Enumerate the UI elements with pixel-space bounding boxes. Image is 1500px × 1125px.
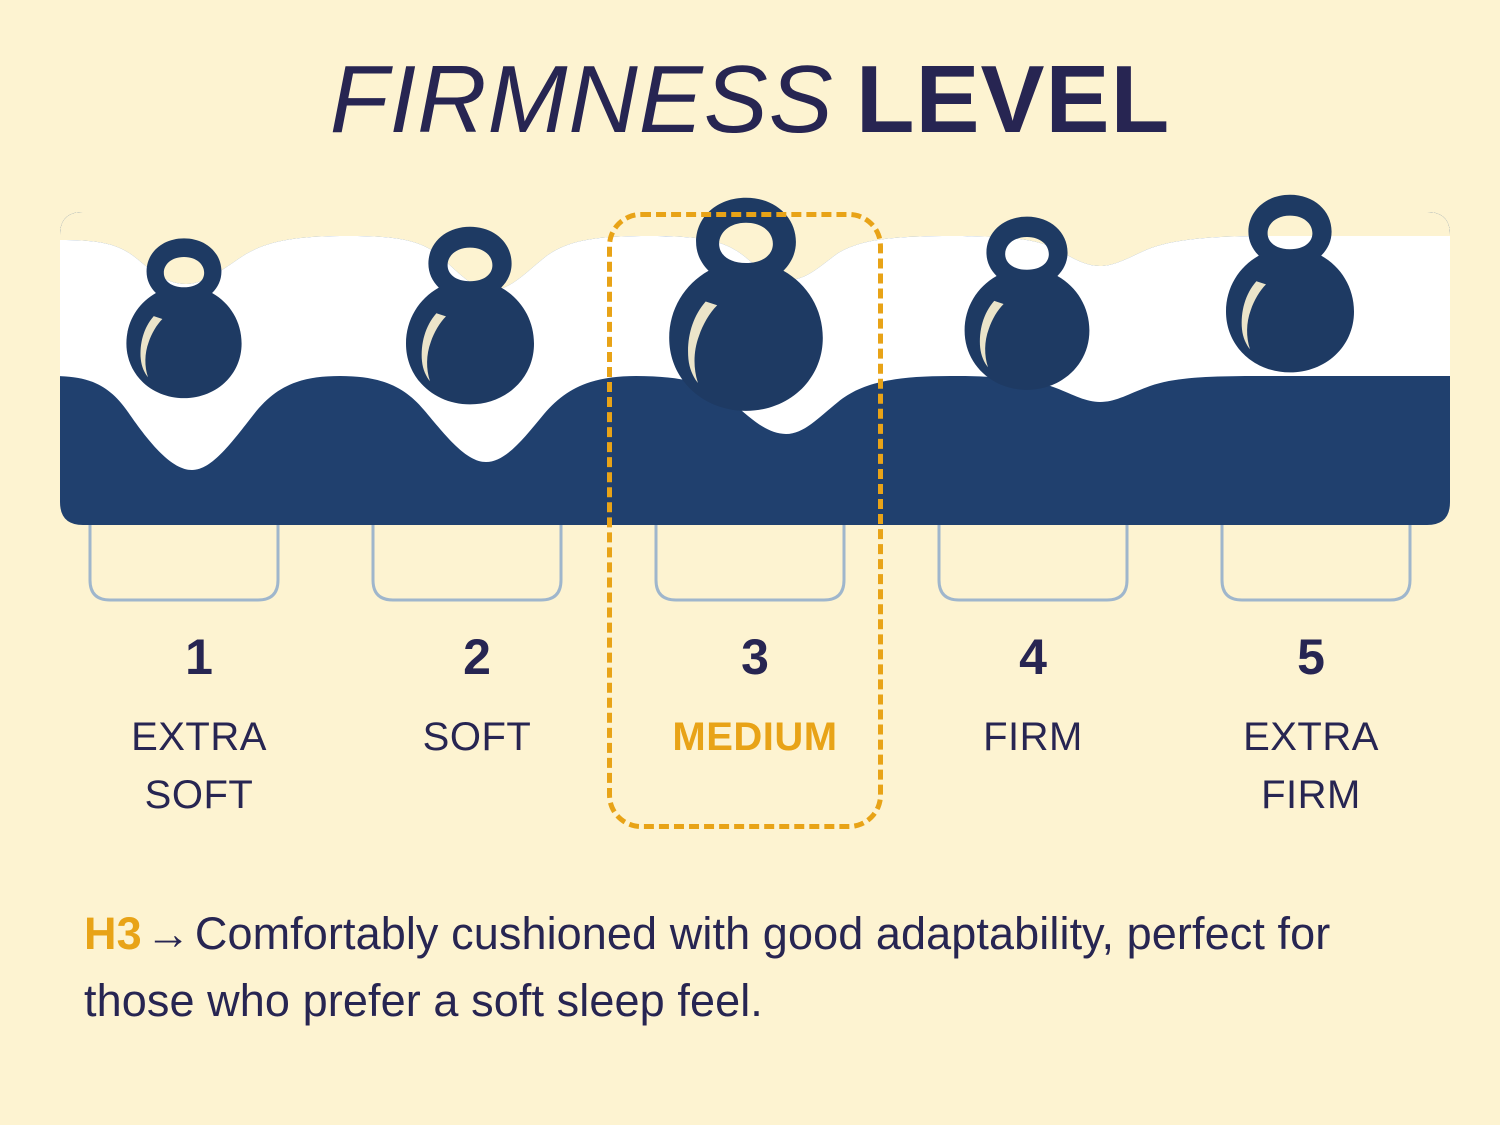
scale-label-2: SOFT (338, 708, 616, 766)
scale-number-1: 1 (60, 628, 338, 686)
scale-number-2: 2 (338, 628, 616, 686)
mattress-illustration (0, 180, 1500, 640)
caption-tag: H3 (84, 908, 142, 959)
slat-segment-4 (939, 525, 1127, 600)
title-part-level: LEVEL (856, 46, 1170, 153)
title-part-firmness: FIRMNESS (330, 46, 834, 153)
scale-item-3[interactable]: 3 MEDIUM (616, 628, 894, 828)
scale-number-4: 4 (894, 628, 1172, 686)
scale-number-5: 5 (1172, 628, 1450, 686)
infographic-root: FIRMNESSLEVEL (0, 0, 1500, 1125)
scale-number-3: 3 (616, 628, 894, 686)
caption-text: Comfortably cushioned with good adaptabi… (84, 908, 1330, 1026)
page-title: FIRMNESSLEVEL (0, 52, 1500, 148)
scale-item-1[interactable]: 1 EXTRA SOFT (60, 628, 338, 828)
caption: H3→Comfortably cushioned with good adapt… (84, 900, 1424, 1034)
firmness-scale: 1 EXTRA SOFT 2 SOFT 3 MEDIUM 4 FIRM 5 EX… (60, 628, 1450, 828)
scale-label-5: EXTRA FIRM (1172, 708, 1450, 824)
scale-item-5[interactable]: 5 EXTRA FIRM (1172, 628, 1450, 828)
scale-label-1: EXTRA SOFT (60, 708, 338, 824)
slat-segment-1 (90, 525, 278, 600)
slat-segment-2 (373, 525, 561, 600)
scale-item-4[interactable]: 4 FIRM (894, 628, 1172, 828)
slat-segment-5 (1222, 525, 1410, 600)
scale-label-4: FIRM (894, 708, 1172, 766)
arrow-right-icon: → (142, 908, 195, 959)
scale-label-3: MEDIUM (616, 708, 894, 766)
mattress-slats (90, 525, 1410, 600)
scale-item-2[interactable]: 2 SOFT (338, 628, 616, 828)
slat-segment-3 (656, 525, 844, 600)
